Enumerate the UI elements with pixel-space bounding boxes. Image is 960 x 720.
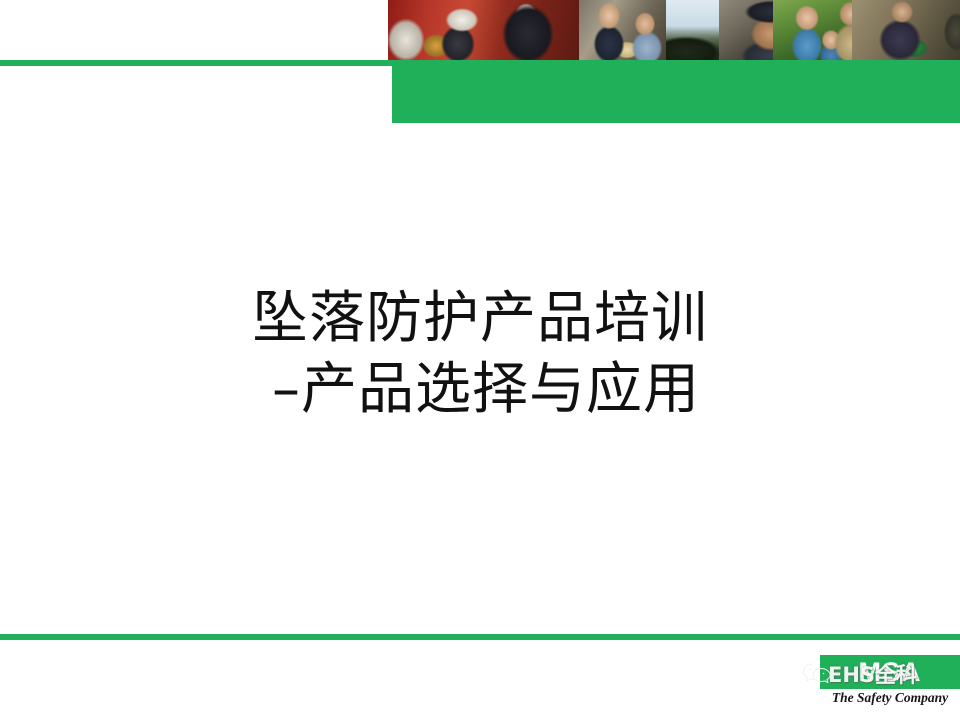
- landscape-photo: [666, 0, 719, 62]
- bottom-accent-rule: [0, 634, 960, 640]
- brand-logo: MSA The Safety Company EHS全科: [800, 655, 960, 713]
- firefighters-photo: [388, 0, 579, 62]
- market-photo: [852, 0, 960, 62]
- title-line-2: –产品选择与应用: [0, 355, 960, 426]
- slide-title: 坠落防护产品培训 –产品选择与应用: [0, 284, 960, 425]
- family-photo: [773, 0, 852, 62]
- title-line-1: 坠落防护产品培训: [0, 284, 960, 355]
- worker-photo: [719, 0, 773, 62]
- logo-tagline: The Safety Company: [820, 690, 960, 706]
- header-photo-strip: [388, 0, 960, 62]
- header-accent-block: [392, 62, 960, 123]
- couple-photo: [579, 0, 667, 62]
- presentation-slide: 坠落防护产品培训 –产品选择与应用 MSA The Safety Company…: [0, 0, 960, 720]
- logo-mark: MSA: [820, 655, 960, 689]
